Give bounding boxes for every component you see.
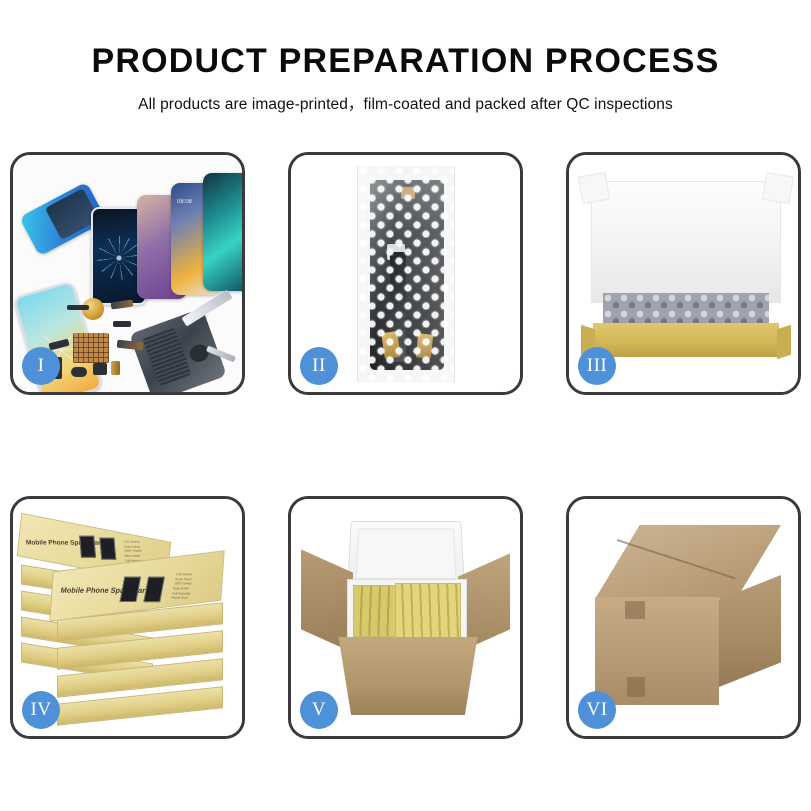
phone-teal <box>203 173 242 291</box>
step-badge-1: I <box>22 347 60 385</box>
process-step-panel-5[interactable]: V Outer carton loaded with foam box cont… <box>288 496 523 739</box>
chip-grid-part <box>73 333 109 363</box>
page-subtitle: All products are image-printed，film-coat… <box>0 92 811 114</box>
flex-cable-2 <box>117 340 144 351</box>
process-step-grid: 08:08 I Mobile phone spare p <box>10 152 801 739</box>
foam-box-lid <box>347 521 465 587</box>
vibration-motor-part <box>111 361 120 375</box>
box-screen-thumb-b2 <box>143 577 165 602</box>
process-step-panel-4[interactable]: Mobile Phone Spare Parts LCD ScreenTouch… <box>10 496 245 739</box>
process-step-panel-6[interactable]: VI Sealed brown shipping carton ready fo… <box>566 496 801 739</box>
small-part-4 <box>71 367 87 377</box>
step-badge-2: II <box>300 347 338 385</box>
step-badge-5: V <box>300 691 338 729</box>
step-badge-4: IV <box>22 691 60 729</box>
carton-body <box>329 637 487 715</box>
packed-retail-boxes-row-2 <box>395 583 461 639</box>
page-title: PRODUCT PREPARATION PROCESS <box>0 44 811 80</box>
carton-tape-lower <box>627 677 645 697</box>
box-spec-list-front: LCD ScreenTouch Panel100% TestedEasy Ins… <box>171 572 195 600</box>
box-screen-thumb-a1 <box>79 536 96 558</box>
box-screen-thumb-b1 <box>120 577 142 602</box>
flex-cable-1 <box>111 300 134 310</box>
process-step-panel-2[interactable]: II Single LCD screen assembly sealed in … <box>288 152 523 395</box>
header: PRODUCT PREPARATION PROCESS All products… <box>0 0 811 114</box>
bubble-wrap-bag <box>357 166 455 382</box>
product-preparation-infographic: PRODUCT PREPARATION PROCESS All products… <box>0 0 811 811</box>
box-screen-thumb-a2 <box>99 538 116 560</box>
kraft-box-tray <box>593 323 779 357</box>
carton-front-face <box>595 597 719 705</box>
carton-tape-upper <box>625 601 645 619</box>
small-part-1 <box>67 305 89 310</box>
process-step-panel-1[interactable]: 08:08 I Mobile phone spare p <box>10 152 245 395</box>
small-part-6 <box>113 321 131 327</box>
step-badge-6: VI <box>578 691 616 729</box>
process-step-panel-3[interactable]: III Open kraft inner box with white lid … <box>566 152 801 395</box>
small-part-5 <box>93 363 107 375</box>
plastic-sheen <box>358 166 454 382</box>
bubble-wrap-padding <box>603 293 769 327</box>
step-badge-3: III <box>578 347 616 385</box>
white-box-lid <box>591 181 781 303</box>
